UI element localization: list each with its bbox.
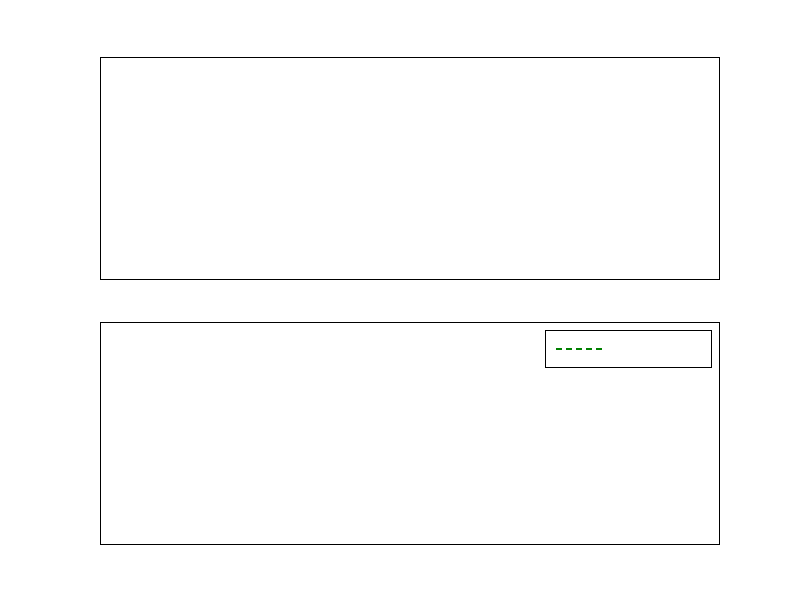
differential-histogram-ytick-labels (48, 57, 94, 280)
matplotlib-figure (0, 0, 800, 600)
differential-histogram-plot-area (101, 58, 719, 279)
cumulative-histogram-xtick-labels (100, 550, 720, 572)
legend[interactable] (545, 330, 712, 368)
differential-histogram-xtick-labels (100, 285, 720, 307)
differential-histogram-axes (100, 57, 720, 280)
mag-limit-line-swatch (556, 348, 602, 350)
cumulative-histogram-ytick-labels (40, 322, 86, 545)
